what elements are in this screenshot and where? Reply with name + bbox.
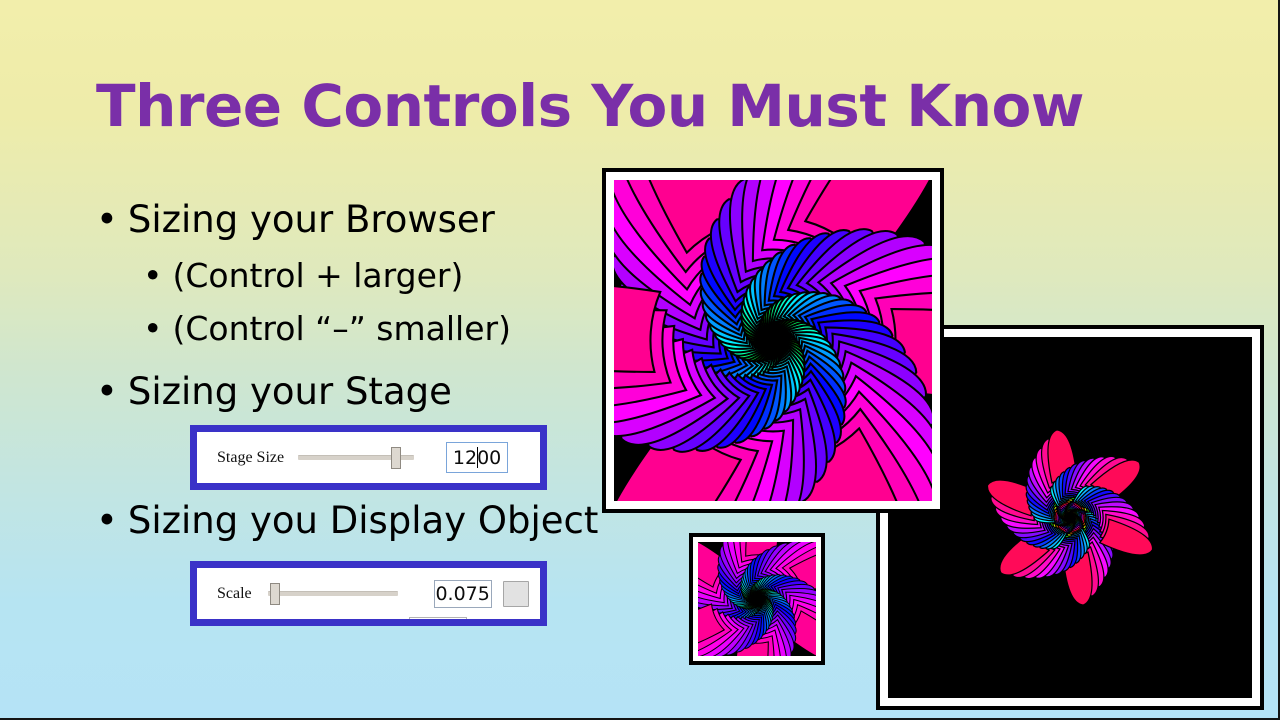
stage-size-value-after-caret: 00 (477, 447, 501, 469)
big-spiral-canvas (614, 180, 932, 501)
big-spiral-image (614, 180, 932, 501)
bullet-marker: • (143, 256, 162, 295)
bullet-item: •(Control + larger) (143, 256, 463, 295)
stage-size-slider[interactable] (298, 448, 414, 468)
bullet-label: Sizing you Display Object (128, 499, 599, 542)
stage-size-slider-thumb[interactable] (391, 447, 401, 469)
stage-size-input[interactable]: 1200 (446, 442, 508, 473)
thumbnail-spiral-mat (693, 537, 821, 661)
page-title: Three Controls You Must Know (96, 72, 1084, 140)
secondary-input-clipped[interactable] (409, 617, 467, 619)
scale-label: Scale (217, 585, 252, 603)
bullet-marker: • (96, 198, 118, 241)
thumbnail-spiral-image (698, 542, 816, 656)
scale-input[interactable]: 0.075 (434, 580, 492, 608)
stage-size-panel-inner: Stage Size 1200 (197, 432, 540, 483)
presentation-slide: Three Controls You Must Know •Sizing you… (0, 0, 1280, 720)
scale-slider[interactable] (268, 584, 398, 604)
bullet-marker: • (96, 370, 118, 413)
scale-apply-button[interactable] (503, 581, 529, 607)
bullet-item: •Sizing your Stage (96, 370, 452, 413)
bullet-label: Sizing your Browser (128, 198, 495, 241)
scale-control-panel: Scale 0.075 (190, 561, 547, 626)
bullet-item: •(Control “–” smaller) (143, 309, 511, 348)
scale-slider-track[interactable] (268, 591, 398, 596)
bullet-marker: • (96, 499, 118, 542)
bullet-label: (Control “–” smaller) (172, 309, 510, 348)
scale-slider-thumb[interactable] (270, 583, 280, 605)
stage-size-control-panel: Stage Size 1200 (190, 425, 547, 490)
big-spiral-mat (606, 172, 940, 509)
bullet-item: •Sizing your Browser (96, 198, 495, 241)
scale-panel-inner: Scale 0.075 (197, 568, 540, 619)
thumbnail-spiral-frame (689, 533, 825, 665)
bullet-label: Sizing your Stage (128, 370, 452, 413)
bullet-marker: • (143, 309, 162, 348)
stage-size-label: Stage Size (217, 449, 284, 467)
bullet-label: (Control + larger) (172, 256, 463, 295)
thumbnail-spiral-canvas (698, 542, 816, 656)
big-spiral-frame (602, 168, 944, 513)
stage-size-value-before-caret: 12 (453, 447, 477, 469)
bullet-item: •Sizing you Display Object (96, 499, 598, 542)
